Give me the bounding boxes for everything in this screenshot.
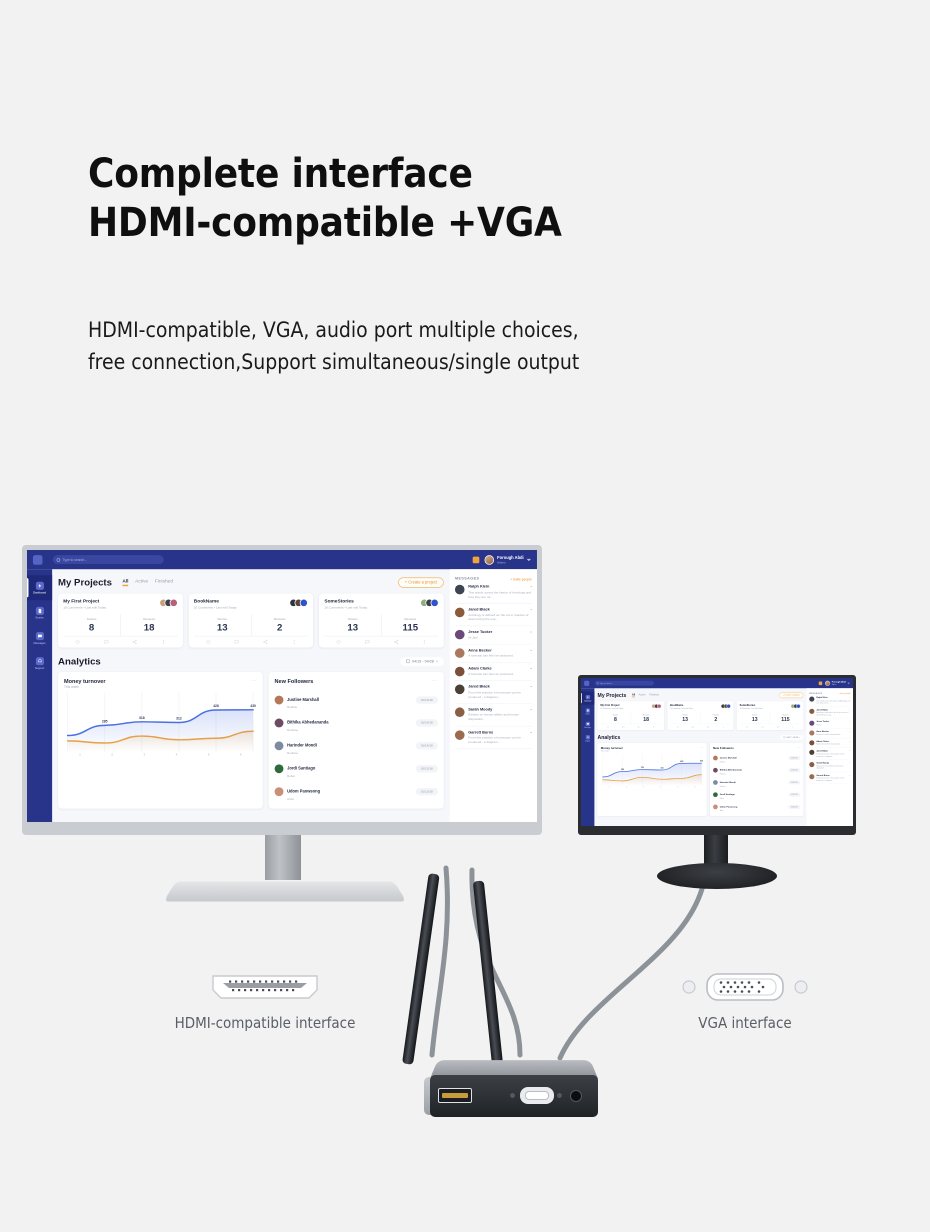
avatar bbox=[713, 768, 718, 773]
create-project-button[interactable]: + Create a project bbox=[779, 692, 803, 698]
messages-icon bbox=[586, 722, 590, 726]
avatar bbox=[431, 599, 439, 607]
app-logo-icon bbox=[33, 555, 43, 565]
message-row[interactable]: Garrett Burns • From this practice a hor… bbox=[809, 772, 850, 784]
sidebar-item-stories[interactable]: Stories bbox=[581, 705, 594, 718]
sidebar: Dashboard Stories Messages Support bbox=[27, 569, 52, 834]
message-row[interactable]: Ralph Klein • This article covers the ba… bbox=[455, 581, 532, 604]
svg-text:430: 430 bbox=[250, 704, 256, 708]
follower-row[interactable]: Jordi Santiago Rebel 01/13/18 bbox=[713, 788, 800, 800]
create-project-button[interactable]: + Create a project bbox=[398, 577, 444, 587]
project-card[interactable]: My First Project 10 Comments • Last edit… bbox=[58, 594, 183, 648]
x-tick: 3 bbox=[143, 753, 145, 757]
avatar bbox=[727, 704, 731, 708]
avatar bbox=[300, 599, 308, 607]
avatar bbox=[275, 718, 284, 727]
project-avatars bbox=[293, 599, 309, 607]
avatar bbox=[809, 721, 814, 726]
svg-text:318: 318 bbox=[139, 716, 145, 720]
stat-label: Stories bbox=[324, 617, 381, 621]
chevron-down-icon bbox=[527, 558, 531, 560]
message-row[interactable]: Adam Clarke • A forecast can then be pro… bbox=[455, 663, 532, 681]
date-range-picker[interactable]: 04/19 - 04/28 ▾ bbox=[780, 735, 803, 740]
unread-dot: • bbox=[850, 762, 851, 764]
more-icon[interactable]: ⋯ bbox=[700, 746, 703, 749]
avatar bbox=[713, 755, 718, 760]
follower-name: Justine Marshall bbox=[287, 697, 319, 701]
notifications-icon[interactable] bbox=[819, 681, 823, 685]
more-icon[interactable] bbox=[646, 726, 661, 729]
avatar bbox=[455, 585, 465, 595]
money-turnover-chart: 285318312428430 bbox=[64, 693, 257, 752]
project-card[interactable]: SomeStories 10 Comments • Last edit Toda… bbox=[737, 701, 803, 730]
unread-dot: • bbox=[850, 730, 851, 732]
message-row[interactable]: Anne Becker • A forecast can then be pro… bbox=[809, 728, 850, 738]
sidebar-item-dashboard[interactable]: Dashboard bbox=[27, 575, 52, 600]
user-menu[interactable]: Forough Abdi Admin bbox=[825, 681, 850, 686]
message-sender: Ralph Klein bbox=[468, 585, 489, 589]
more-icon[interactable]: ⋯ bbox=[251, 678, 257, 684]
calendar-icon bbox=[783, 736, 785, 738]
calendar-icon bbox=[406, 659, 410, 663]
sidebar-item-dashboard[interactable]: Dashboard bbox=[581, 691, 594, 704]
follower-row[interactable]: Udom Paowsong Artist 01/13/18 bbox=[275, 780, 438, 803]
message-sender: Adam Clarke bbox=[468, 666, 491, 670]
project-meta: 10 Comments • Last edit Today bbox=[63, 605, 106, 609]
message-sender: Jared Black bbox=[816, 750, 827, 752]
project-tabs: All Active Finished bbox=[632, 693, 659, 697]
project-avatars bbox=[423, 599, 439, 607]
sidebar-item-messages[interactable]: Messages bbox=[581, 718, 594, 731]
project-avatars bbox=[723, 704, 731, 708]
device-hdmi-port bbox=[438, 1088, 472, 1103]
avatar bbox=[809, 762, 814, 767]
search-placeholder: Type to search... bbox=[62, 558, 87, 562]
follower-name: Jordi Santiago bbox=[720, 793, 735, 795]
sidebar-item-label: Stories bbox=[585, 713, 589, 715]
sidebar-item-messages[interactable]: Messages bbox=[27, 625, 52, 650]
follower-name: Justine Marshall bbox=[720, 757, 737, 759]
message-preview: From this practice a horoscope can be pr… bbox=[816, 777, 850, 782]
project-name: My First Project bbox=[600, 704, 623, 707]
project-meta: 10 Comments • Last edit Today bbox=[324, 605, 367, 609]
vga-connector-icon bbox=[675, 970, 815, 1004]
follower-role: Redrose bbox=[720, 773, 742, 775]
message-row[interactable]: Adam Clarke • A forecast can then be pro… bbox=[809, 738, 850, 748]
comment-icon[interactable] bbox=[92, 639, 121, 644]
follower-name: Bithika Abhedananda bbox=[287, 720, 328, 724]
follower-role: Artist bbox=[720, 809, 738, 811]
share-icon[interactable] bbox=[382, 639, 411, 644]
hdmi-callout: HDMI-compatible interface bbox=[135, 970, 395, 1032]
unread-dot: • bbox=[531, 648, 532, 652]
svg-text:285: 285 bbox=[621, 769, 624, 771]
messages-title: MESSAGES bbox=[455, 577, 479, 581]
follower-row[interactable]: Justine Marshall Redline 01/14/18 bbox=[713, 752, 800, 764]
message-row[interactable]: Anne Becker • A forecast can then be pro… bbox=[455, 645, 532, 663]
date-range-value: 04/19 - 04/28 bbox=[412, 659, 434, 663]
monitor-secondary-base bbox=[657, 863, 777, 889]
share-icon[interactable] bbox=[120, 639, 149, 644]
stories-icon bbox=[35, 607, 43, 615]
stat-reviews: Reviews 115 bbox=[770, 712, 801, 723]
dashboard-topbar: Type to search... Forough Abdi Admin bbox=[581, 678, 853, 688]
follower-role: Artist bbox=[287, 796, 320, 800]
follower-name: Udom Paowsong bbox=[287, 789, 320, 793]
stat-stories: Stories 8 bbox=[600, 712, 630, 723]
antenna-left bbox=[402, 873, 440, 1065]
vga-callout-label: VGA interface bbox=[615, 1014, 875, 1032]
message-row[interactable]: Ralph Klein • This article covers the ba… bbox=[809, 695, 850, 707]
x-tick: 4 bbox=[176, 753, 178, 757]
project-name: SomeStories bbox=[740, 704, 763, 707]
project-card[interactable]: My First Project 10 Comments • Last edit… bbox=[598, 701, 664, 730]
stat-value: 115 bbox=[382, 622, 439, 633]
project-cards: My First Project 10 Comments • Last edit… bbox=[58, 594, 444, 648]
svg-text:312: 312 bbox=[661, 767, 664, 769]
messages-icon bbox=[35, 632, 43, 640]
stat-stories: Stories 13 bbox=[670, 712, 700, 723]
follower-role: Redrose bbox=[720, 785, 736, 787]
support-icon bbox=[35, 657, 43, 665]
unread-dot: • bbox=[531, 685, 532, 689]
unread-dot: • bbox=[531, 707, 532, 711]
message-preview: Hi Jan! bbox=[468, 636, 532, 641]
message-preview: Hi Jan! bbox=[816, 724, 850, 726]
project-meta: 10 Comments • Last edit Today bbox=[670, 708, 693, 710]
avatar bbox=[809, 709, 814, 714]
avatar bbox=[275, 741, 284, 750]
message-preview: From this practice a horoscope can be pr… bbox=[816, 753, 850, 758]
avatar bbox=[713, 792, 718, 797]
message-preview: A forecast can then be produced. bbox=[468, 654, 532, 659]
follower-row[interactable]: Udom Paowsong Artist 01/13/18 bbox=[713, 801, 800, 813]
project-meta: 10 Comments • Last edit Today bbox=[194, 605, 237, 609]
svg-text:428: 428 bbox=[213, 704, 219, 708]
page-title: My Projects bbox=[58, 577, 112, 588]
message-preview: Relates on human affairs and human dispo… bbox=[816, 765, 850, 770]
message-row[interactable]: Garrett Burns • From this practice a hor… bbox=[455, 726, 532, 749]
messages-title: MESSAGES bbox=[809, 692, 822, 694]
project-tabs: All Active Finished bbox=[122, 578, 173, 585]
unread-dot: • bbox=[850, 721, 851, 723]
like-icon[interactable] bbox=[194, 639, 223, 644]
like-icon[interactable] bbox=[63, 639, 92, 644]
sidebar-item-label: Messages bbox=[584, 727, 590, 729]
message-preview: Astrology is defined as 'the art or prac… bbox=[468, 613, 532, 622]
message-preview: From this practice a horoscope can be pr… bbox=[468, 690, 532, 699]
stat-label: Stories bbox=[194, 617, 251, 621]
avatar bbox=[455, 666, 465, 676]
unread-dot: • bbox=[850, 709, 851, 711]
follower-action[interactable]: 01/13/18 bbox=[788, 793, 800, 797]
follower-row[interactable]: Justine Marshall Redline 01/14/18 bbox=[275, 688, 438, 711]
stat-stories: Stories 8 bbox=[63, 614, 120, 635]
search-icon bbox=[57, 558, 61, 562]
chart-subtitle: This week bbox=[601, 750, 623, 752]
subcopy-line-1: HDMI-compatible, VGA, audio port multipl… bbox=[88, 315, 579, 347]
money-turnover-chart: 285318312428430 bbox=[601, 754, 704, 786]
avatar bbox=[455, 730, 465, 740]
hdmi-connector-icon bbox=[205, 970, 325, 1004]
messages-panel: MESSAGES + Invite people Ralph Klein • T… bbox=[450, 569, 537, 834]
invite-people-button[interactable]: + Invite people bbox=[510, 577, 532, 581]
message-row[interactable]: Jared Black • From this practice a horos… bbox=[809, 748, 850, 760]
comment-icon[interactable] bbox=[222, 639, 251, 644]
like-icon[interactable] bbox=[324, 639, 353, 644]
message-row[interactable]: Jesse Tucker • Hi Jan! bbox=[809, 719, 850, 729]
invite-people-button[interactable]: + Invite people bbox=[839, 692, 851, 694]
stat-value: 115 bbox=[770, 716, 800, 722]
new-followers-panel: New Followers ⋯ Justine Marshall Redline… bbox=[269, 672, 444, 809]
subcopy-block: HDMI-compatible, VGA, audio port multipl… bbox=[88, 315, 579, 379]
avatar bbox=[809, 730, 814, 735]
wireless-transmitter bbox=[424, 1058, 604, 1120]
stat-value: 18 bbox=[631, 716, 661, 722]
follower-row[interactable]: Harinder Mondi Redrose 01/14/18 bbox=[275, 734, 438, 757]
stat-stories: Stories 13 bbox=[324, 614, 381, 635]
like-icon[interactable] bbox=[600, 726, 615, 729]
monitor-primary-base bbox=[164, 882, 407, 902]
project-avatars bbox=[162, 599, 178, 607]
follower-action[interactable]: 01/14/18 bbox=[788, 780, 800, 784]
tab-finished[interactable]: Finished bbox=[155, 578, 173, 585]
x-tick: 6 bbox=[695, 786, 696, 788]
share-icon[interactable] bbox=[770, 726, 785, 729]
x-tick: 6 bbox=[240, 753, 242, 757]
analytics-title: Analytics bbox=[598, 734, 621, 740]
avatar bbox=[455, 630, 465, 640]
tab-all[interactable]: All bbox=[632, 693, 635, 697]
project-card[interactable]: BookName 10 Comments • Last edit Today S… bbox=[189, 594, 314, 648]
date-range-value: 04/19 - 04/28 bbox=[786, 736, 798, 738]
stat-value: 2 bbox=[701, 716, 731, 722]
avatar bbox=[713, 804, 718, 809]
message-row[interactable]: Jared Black • Astrology is defined as 't… bbox=[455, 604, 532, 627]
follower-action[interactable]: 01/14/18 bbox=[788, 768, 800, 772]
unread-dot: • bbox=[531, 585, 532, 589]
stories-icon bbox=[586, 708, 590, 712]
project-name: SomeStories bbox=[324, 599, 367, 604]
like-icon[interactable] bbox=[740, 726, 755, 729]
tab-finished[interactable]: Finished bbox=[649, 693, 659, 697]
follower-action[interactable]: 01/13/18 bbox=[416, 788, 438, 795]
message-preview: A forecast can then be produced. bbox=[816, 733, 850, 735]
message-preview: Astrology is defined as 'the art or prac… bbox=[816, 712, 850, 717]
follower-action[interactable]: 01/13/18 bbox=[788, 805, 800, 809]
chart-x-axis: 123456 bbox=[64, 753, 257, 757]
comment-icon[interactable] bbox=[616, 726, 631, 729]
project-name: My First Project bbox=[63, 599, 106, 604]
follower-name: Harinder Mondi bbox=[287, 743, 317, 747]
notifications-icon[interactable] bbox=[473, 556, 480, 563]
avatar bbox=[455, 685, 465, 695]
more-icon[interactable] bbox=[410, 639, 439, 644]
headline-block: Complete interface HDMI-compatible +VGA bbox=[88, 150, 562, 248]
follower-row[interactable]: Jordi Santiago Rebel 01/13/18 bbox=[275, 757, 438, 780]
stat-value: 2 bbox=[251, 622, 308, 633]
unread-dot: • bbox=[531, 607, 532, 611]
new-followers-panel: New Followers ⋯ Justine Marshall Redline… bbox=[710, 743, 803, 816]
search-placeholder: Type to search... bbox=[600, 682, 613, 684]
follower-action[interactable]: 01/13/18 bbox=[416, 765, 438, 772]
follower-action[interactable]: 01/14/18 bbox=[788, 756, 800, 760]
message-row[interactable]: Sarah Moody • Relates on human affairs a… bbox=[455, 704, 532, 727]
stat-label: Reviews bbox=[121, 617, 178, 621]
message-row[interactable]: Sarah Moody • Relates on human affairs a… bbox=[809, 760, 850, 772]
follower-role: Redline bbox=[287, 705, 319, 709]
sidebar-item-label: Dashboard bbox=[33, 591, 46, 594]
sidebar-item-stories[interactable]: Stories bbox=[27, 600, 52, 625]
sidebar-item-label: Stories bbox=[35, 616, 43, 619]
more-icon[interactable]: ⋯ bbox=[432, 678, 438, 684]
monitor-secondary-screen: Type to search... Forough Abdi Admin Das… bbox=[578, 675, 856, 835]
sidebar-item-support[interactable]: Support bbox=[27, 651, 52, 676]
avatar bbox=[275, 764, 284, 773]
monitor-secondary: Type to search... Forough Abdi Admin Das… bbox=[578, 675, 856, 835]
tab-active[interactable]: Active bbox=[639, 693, 646, 697]
message-sender: Ralph Klein bbox=[816, 697, 827, 699]
stat-reviews: Reviews 2 bbox=[700, 712, 731, 723]
chevron-down-icon bbox=[847, 683, 849, 684]
message-sender: Jared Black bbox=[468, 685, 490, 689]
dashboard-icon bbox=[586, 695, 590, 699]
x-tick: 4 bbox=[660, 786, 661, 788]
user-role: Admin bbox=[832, 683, 846, 685]
sidebar: Dashboard Stories Messages Support bbox=[581, 688, 594, 830]
comment-icon[interactable] bbox=[685, 726, 700, 729]
message-preview: From this practice a horoscope can be pr… bbox=[468, 736, 532, 745]
message-preview: This article covers the basics of Astrol… bbox=[468, 590, 532, 599]
follower-action[interactable]: 01/14/18 bbox=[416, 696, 438, 703]
project-avatars bbox=[653, 704, 661, 708]
project-card[interactable]: SomeStories 10 Comments • Last edit Toda… bbox=[319, 594, 444, 648]
project-card[interactable]: BookName 10 Comments • Last edit Today S… bbox=[667, 701, 733, 730]
avatar bbox=[825, 681, 830, 686]
more-icon[interactable] bbox=[785, 726, 800, 729]
follower-name: Jordi Santiago bbox=[287, 766, 315, 770]
stat-value: 13 bbox=[324, 622, 381, 633]
app-logo-icon bbox=[584, 681, 589, 686]
unread-dot: • bbox=[531, 666, 532, 670]
user-name: Forough Abdi bbox=[497, 556, 523, 560]
follower-role: Redrose bbox=[287, 751, 317, 755]
headline-line-1: Complete interface bbox=[88, 150, 562, 199]
avatar bbox=[169, 599, 177, 607]
stat-label: Reviews bbox=[382, 617, 439, 621]
message-sender: Jesse Tucker bbox=[468, 630, 492, 634]
unread-dot: • bbox=[531, 730, 532, 734]
dashboard-primary: Type to search... Forough Abdi Admin Das… bbox=[27, 550, 537, 835]
stat-stories: Stories 13 bbox=[194, 614, 251, 635]
message-row[interactable]: Jared Black • Astrology is defined as 't… bbox=[809, 707, 850, 719]
unread-dot: • bbox=[850, 774, 851, 776]
avatar bbox=[455, 707, 465, 717]
follower-action[interactable]: 01/14/18 bbox=[416, 719, 438, 726]
x-tick: 2 bbox=[626, 786, 627, 788]
follower-row[interactable]: Bithika Abhedananda Redrose 01/14/18 bbox=[275, 711, 438, 734]
more-icon[interactable] bbox=[280, 639, 309, 644]
message-sender: Garrett Burns bbox=[468, 730, 493, 734]
money-turnover-panel: Money turnover This week ⋯ 2853183124284… bbox=[58, 672, 263, 809]
follower-action[interactable]: 01/14/18 bbox=[416, 742, 438, 749]
search-icon bbox=[597, 682, 599, 684]
followers-title: New Followers bbox=[275, 678, 314, 685]
message-sender: Sarah Moody bbox=[468, 707, 492, 711]
monitor-primary: Type to search... Forough Abdi Admin Das… bbox=[22, 545, 542, 835]
follower-name: Bithika Abhedananda bbox=[720, 769, 742, 771]
like-icon[interactable] bbox=[670, 726, 685, 729]
sidebar-item-support[interactable]: Support bbox=[581, 732, 594, 745]
monitor-primary-neck bbox=[265, 835, 301, 880]
share-icon[interactable] bbox=[631, 726, 646, 729]
user-role: Admin bbox=[497, 560, 523, 564]
x-tick: 1 bbox=[79, 753, 81, 757]
more-icon[interactable]: ⋯ bbox=[797, 746, 800, 749]
tab-active[interactable]: Active bbox=[135, 578, 148, 585]
svg-text:285: 285 bbox=[102, 719, 108, 723]
project-name: BookName bbox=[670, 704, 693, 707]
chart-x-axis: 123456 bbox=[601, 786, 704, 788]
avatar bbox=[455, 607, 465, 617]
comment-icon[interactable] bbox=[353, 639, 382, 644]
share-icon[interactable] bbox=[251, 639, 280, 644]
share-icon[interactable] bbox=[700, 726, 715, 729]
user-menu[interactable]: Forough Abdi Admin bbox=[485, 555, 531, 565]
more-icon[interactable] bbox=[149, 639, 178, 644]
follower-name: Harinder Mondi bbox=[720, 781, 736, 783]
more-icon[interactable] bbox=[716, 726, 731, 729]
tab-all[interactable]: All bbox=[122, 578, 128, 585]
x-tick: 1 bbox=[609, 786, 610, 788]
follower-row[interactable]: Bithika Abhedananda Redrose 01/14/18 bbox=[713, 764, 800, 776]
message-row[interactable]: Jesse Tucker • Hi Jan! bbox=[455, 626, 532, 644]
search-input[interactable]: Type to search... bbox=[53, 555, 164, 564]
stat-reviews: Reviews 2 bbox=[251, 614, 309, 635]
hdmi-callout-label: HDMI-compatible interface bbox=[135, 1014, 395, 1032]
project-cards: My First Project 10 Comments • Last edit… bbox=[598, 701, 804, 730]
follower-name: Udom Paowsong bbox=[720, 806, 738, 808]
device-screw-right bbox=[557, 1093, 562, 1098]
sidebar-item-label: Support bbox=[585, 740, 590, 742]
search-input[interactable]: Type to search... bbox=[595, 681, 654, 686]
avatar bbox=[809, 740, 814, 745]
dashboard-topbar: Type to search... Forough Abdi Admin bbox=[27, 550, 537, 569]
sidebar-item-label: Dashboard bbox=[584, 700, 591, 702]
avatar bbox=[275, 787, 284, 796]
stat-reviews: Reviews 18 bbox=[631, 712, 662, 723]
unread-dot: • bbox=[531, 630, 532, 634]
stat-stories: Stories 13 bbox=[740, 712, 770, 723]
svg-text:318: 318 bbox=[641, 767, 644, 769]
follower-row[interactable]: Harinder Mondi Redrose 01/14/18 bbox=[713, 776, 800, 788]
message-preview: A forecast can then be produced. bbox=[468, 672, 532, 677]
follower-role: Redrose bbox=[287, 728, 328, 732]
date-range-picker[interactable]: 04/19 - 04/28 ▾ bbox=[400, 657, 444, 666]
avatar bbox=[455, 648, 465, 658]
dashboard-icon bbox=[35, 581, 43, 589]
message-preview: Relates on human affairs and human dispo… bbox=[468, 713, 532, 722]
comment-icon[interactable] bbox=[755, 726, 770, 729]
analytics-title: Analytics bbox=[58, 656, 101, 667]
antenna-right bbox=[473, 880, 503, 1064]
device-screw-left bbox=[510, 1093, 515, 1098]
stat-value: 13 bbox=[740, 716, 770, 722]
message-row[interactable]: Jared Black • From this practice a horos… bbox=[455, 681, 532, 704]
message-sender: Jesse Tucker bbox=[816, 721, 829, 723]
page-title: My Projects bbox=[598, 692, 627, 698]
avatar bbox=[657, 704, 661, 708]
